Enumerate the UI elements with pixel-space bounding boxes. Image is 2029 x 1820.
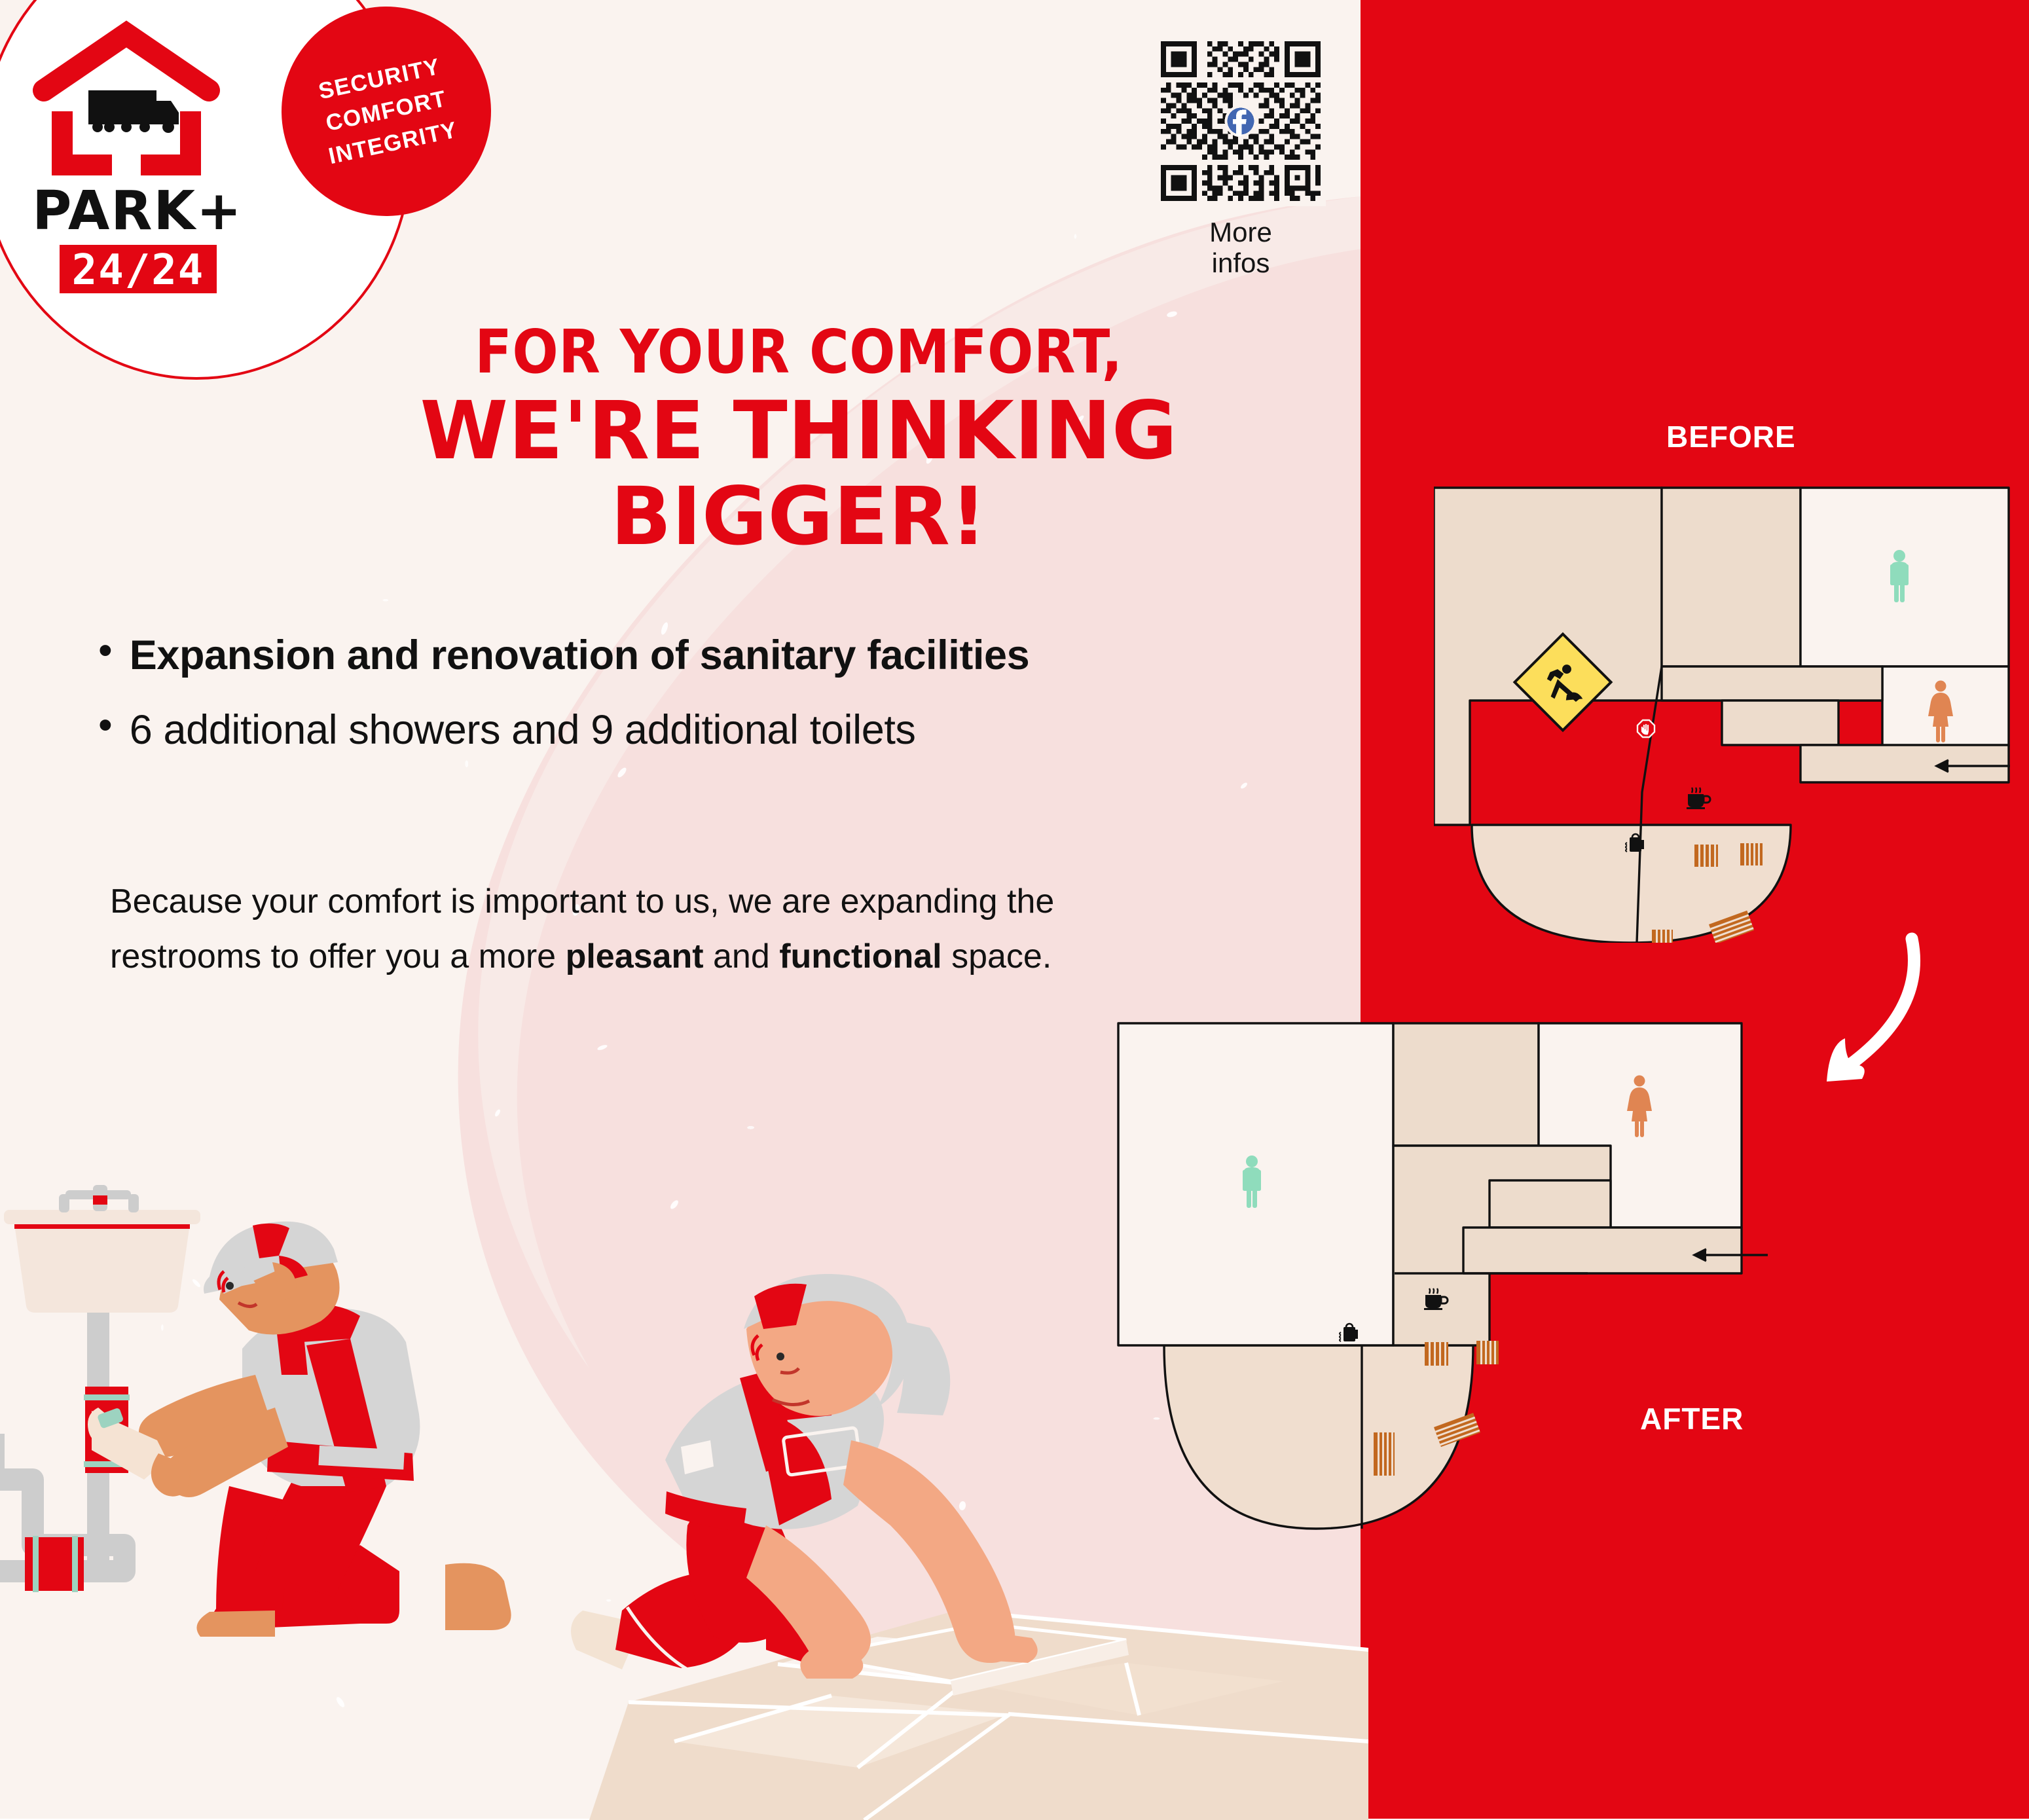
coffee-cup-icon: [1687, 788, 1710, 809]
truck-icon: [88, 90, 179, 133]
before-floor-plan: [1434, 484, 2010, 943]
qr-label: More infos: [1146, 217, 1336, 278]
body-bold-functional: functional: [779, 937, 941, 975]
body-bold-pleasant: pleasant: [566, 937, 704, 975]
park24-logo: PARK+ 24/24: [29, 20, 246, 327]
body-paragraph: Because your comfort is important to us,…: [110, 874, 1131, 984]
qr-code-icon[interactable]: [1156, 36, 1326, 206]
list-item: • 6 additional showers and 9 additional …: [98, 706, 1323, 754]
qr-label-line1: More: [1146, 217, 1336, 247]
qr-label-line2: infos: [1146, 247, 1336, 278]
bullet-marker: •: [98, 632, 113, 670]
after-floor-plan: [1106, 1011, 1827, 1542]
list-item: • Expansion and renovation of sanitary f…: [98, 632, 1323, 679]
qr-block[interactable]: More infos: [1146, 36, 1336, 278]
curved-down-arrow-icon: [1807, 910, 2029, 1113]
headline-block: FOR YOUR COMFORT, WE'RE THINKING BIGGER!: [288, 321, 1309, 560]
plumber-illustration: [0, 1178, 524, 1637]
svg-text:PARK+: PARK+: [32, 180, 242, 242]
bullet-text: Expansion and renovation of sanitary fac…: [130, 632, 1030, 679]
headline-line-1: FOR YOUR COMFORT,: [288, 321, 1309, 384]
svg-text:24/24: 24/24: [72, 246, 205, 295]
bullet-list: • Expansion and renovation of sanitary f…: [98, 632, 1323, 754]
headline-line-2: WE'RE THINKING BIGGER!: [288, 388, 1309, 561]
bullet-marker: •: [98, 706, 113, 745]
stop-hand-icon: [1637, 720, 1654, 737]
bullet-text: 6 additional showers and 9 additional to…: [130, 706, 916, 754]
body-mid: and: [704, 937, 780, 975]
facebook-icon: [1225, 105, 1257, 137]
before-plan-label: BEFORE: [1666, 419, 1796, 454]
body-part-2: space.: [942, 937, 1052, 975]
